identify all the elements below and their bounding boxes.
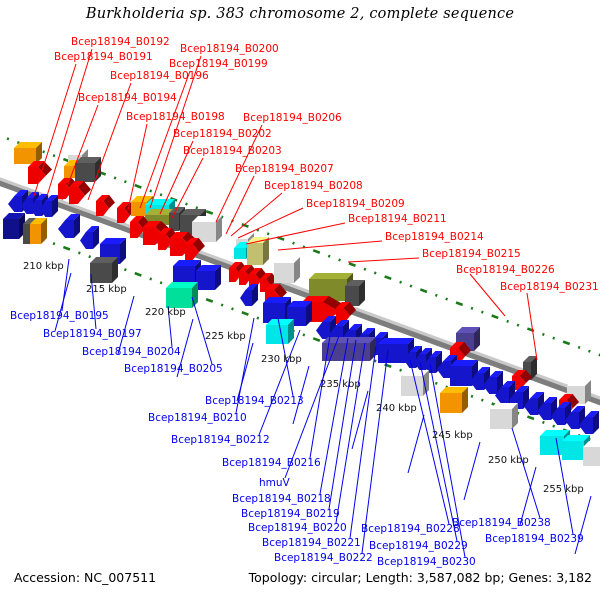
gene-label[interactable]: Bcep18194_B0192 [71, 37, 170, 48]
gene-label[interactable]: Bcep18194_B0218 [232, 494, 331, 505]
gene-label[interactable]: hmuV [259, 478, 290, 489]
scale-tick-label: 250 kbp [488, 455, 529, 466]
scale-tick-label: 215 kbp [86, 284, 127, 295]
gene-label[interactable]: Bcep18194_B0208 [264, 181, 363, 192]
gene-label[interactable]: Bcep18194_B0205 [124, 364, 223, 375]
gene-label[interactable]: Bcep18194_B0239 [485, 534, 584, 545]
gene-label[interactable]: Bcep18194_B0226 [456, 265, 555, 276]
genome-map-viewport: Burkholderia sp. 383 chromosome 2, compl… [0, 0, 600, 600]
gene-label[interactable]: Bcep18194_B0199 [169, 59, 268, 70]
scale-tick-label: 245 kbp [432, 430, 473, 441]
gene-label[interactable]: Bcep18194_B0220 [248, 523, 347, 534]
gene-label[interactable]: Bcep18194_B0203 [183, 146, 282, 157]
scale-tick-label: 235 kbp [320, 379, 361, 390]
gene-label[interactable]: Bcep18194_B0230 [377, 557, 476, 568]
gene-label[interactable]: Bcep18194_B0194 [78, 93, 177, 104]
topology-text: Topology: circular; Length: 3,587,082 bp… [249, 570, 592, 585]
scale-tick-label: 220 kbp [145, 307, 186, 318]
gene-label[interactable]: Bcep18194_B0231 [500, 282, 599, 293]
gene-label[interactable]: Bcep18194_B0229 [369, 541, 468, 552]
gene-label[interactable]: Bcep18194_B0197 [43, 329, 142, 340]
gene-label[interactable]: Bcep18194_B0215 [422, 249, 521, 260]
gene-label[interactable]: Bcep18194_B0196 [110, 71, 209, 82]
scale-tick-label: 230 kbp [261, 354, 302, 365]
scale-tick-label: 210 kbp [23, 261, 64, 272]
accession-text: Accession: NC_007511 [14, 570, 156, 585]
gene-label[interactable]: Bcep18194_B0222 [274, 553, 373, 564]
gene-label[interactable]: Bcep18194_B0206 [243, 113, 342, 124]
gene-label[interactable]: Bcep18194_B0228 [361, 524, 460, 535]
gene-label[interactable]: Bcep18194_B0198 [126, 112, 225, 123]
scale-tick-label: 225 kbp [205, 331, 246, 342]
gene-label[interactable]: Bcep18194_B0213 [205, 396, 304, 407]
gene-label[interactable]: Bcep18194_B0211 [348, 214, 447, 225]
gene-label[interactable]: Bcep18194_B0207 [235, 164, 334, 175]
scale-tick-label: 255 kbp [543, 484, 584, 495]
gene-label[interactable]: Bcep18194_B0204 [82, 347, 181, 358]
gene-label[interactable]: Bcep18194_B0216 [222, 458, 321, 469]
gene-label[interactable]: Bcep18194_B0221 [262, 538, 361, 549]
gene-label[interactable]: Bcep18194_B0202 [173, 129, 272, 140]
gene-label[interactable]: Bcep18194_B0200 [180, 44, 279, 55]
gene-label[interactable]: Bcep18194_B0195 [10, 311, 109, 322]
scale-tick-label: 240 kbp [376, 403, 417, 414]
gene-label[interactable]: Bcep18194_B0238 [452, 518, 551, 529]
gene-label[interactable]: Bcep18194_B0212 [171, 435, 270, 446]
gene-label[interactable]: Bcep18194_B0209 [306, 199, 405, 210]
gene-label[interactable]: Bcep18194_B0210 [148, 413, 247, 424]
gene-label[interactable]: Bcep18194_B0191 [54, 52, 153, 63]
gene-label[interactable]: Bcep18194_B0214 [385, 232, 484, 243]
footer-bar: Accession: NC_007511 Topology: circular;… [0, 570, 600, 592]
gene-label[interactable]: Bcep18194_B0219 [241, 509, 340, 520]
